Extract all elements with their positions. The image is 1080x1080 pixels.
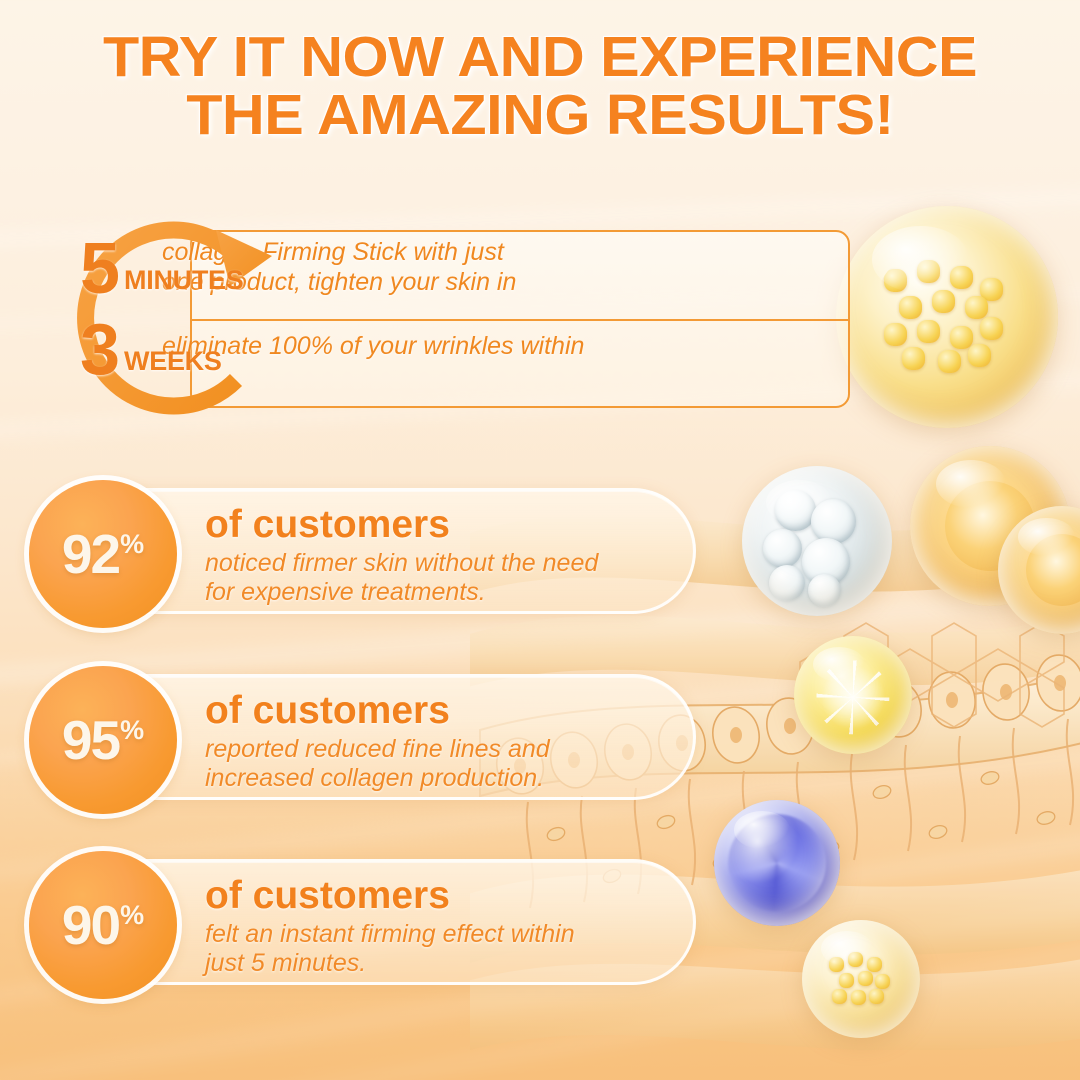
stat-title-95: of customers xyxy=(205,691,685,730)
timeline-numbers: 5 MINUTES 3 WEEKS xyxy=(80,240,310,380)
amber-lens-sphere-large-icon xyxy=(910,446,1070,606)
stat-value-92: 92 xyxy=(62,527,119,582)
stat-circle-92: 92 % xyxy=(29,480,177,628)
stat-desc-90-line1: felt an instant firming effect within xyxy=(205,920,685,949)
timeline-row-1-unit: MINUTES xyxy=(124,265,243,296)
stat-desc-92-line2: for expensive treatments. xyxy=(205,578,685,607)
headline-line-1: TRY IT NOW AND EXPERIENCE xyxy=(103,25,977,89)
stat-title-92: of customers xyxy=(205,505,685,544)
stat-circle-95: 95 % xyxy=(29,666,177,814)
stat-desc-92-line1: noticed firmer skin without the need xyxy=(205,549,685,578)
timeline-row-1-duration: 5 MINUTES xyxy=(80,240,310,299)
stat-symbol-92: % xyxy=(120,531,144,558)
honeycomb-sphere-bottom-icon xyxy=(802,920,920,1038)
stat-card-95: 95 % of customers reported reduced fine … xyxy=(36,674,696,800)
stat-symbol-90: % xyxy=(120,902,144,929)
timeline-row-2-duration: 3 WEEKS xyxy=(80,321,310,380)
timeline-row-2-number: 3 xyxy=(80,321,120,380)
amber-lens-sphere-small-icon xyxy=(998,506,1080,634)
headline-line-2: THE AMAZING RESULTS! xyxy=(0,86,1080,144)
stat-desc-90-line2: just 5 minutes. xyxy=(205,949,685,978)
silver-bubble-cluster-sphere-icon xyxy=(742,466,892,616)
stat-value-90: 90 xyxy=(62,898,119,953)
yellow-starburst-sphere-icon xyxy=(794,636,912,754)
stat-desc-95-line1: reported reduced fine lines and xyxy=(205,735,685,764)
stat-card-92: 92 % of customers noticed firmer skin wi… xyxy=(36,488,696,614)
blue-marble-sphere-icon xyxy=(714,800,840,926)
timeline-row-1-number: 5 xyxy=(80,240,120,299)
stat-value-95: 95 xyxy=(62,713,119,768)
timeline-section: collagen Firming Stick with just one pro… xyxy=(40,212,850,424)
timeline-row-2-unit: WEEKS xyxy=(124,346,222,377)
stat-symbol-95: % xyxy=(120,717,144,744)
stat-card-90: 90 % of customers felt an instant firmin… xyxy=(36,859,696,985)
page-title: TRY IT NOW AND EXPERIENCE THE AMAZING RE… xyxy=(0,28,1080,144)
honeycomb-sphere-top-icon xyxy=(836,206,1058,428)
stat-desc-95-line2: increased collagen production. xyxy=(205,764,685,793)
stat-title-90: of customers xyxy=(205,876,685,915)
stat-circle-90: 90 % xyxy=(29,851,177,999)
